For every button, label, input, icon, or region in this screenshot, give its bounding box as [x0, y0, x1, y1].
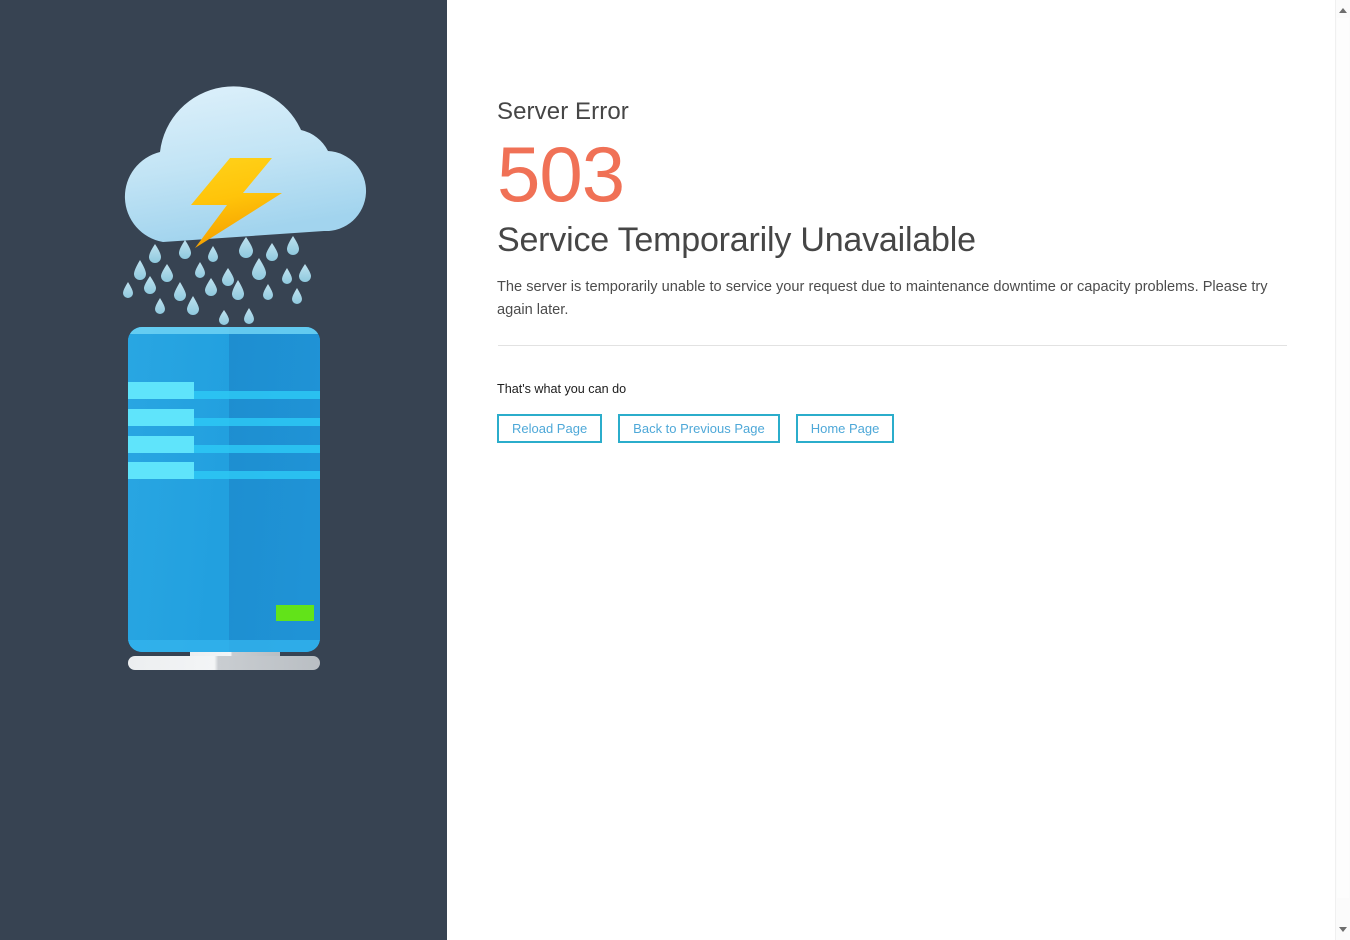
- raindrop-icon: [174, 282, 186, 301]
- raindrop-icon: [161, 264, 173, 282]
- actions-label: That's what you can do: [497, 354, 1287, 397]
- back-to-previous-page-button[interactable]: Back to Previous Page: [618, 414, 780, 443]
- error-page: Server Error 503 Service Temporarily Una…: [0, 0, 1350, 940]
- raindrop-icon: [134, 260, 146, 280]
- action-button-row: Reload Page Back to Previous Page Home P…: [497, 397, 1287, 443]
- raindrop-icon: [282, 268, 292, 284]
- section-divider: [498, 345, 1287, 346]
- raindrop-icon: [263, 284, 273, 300]
- raindrop-icon: [219, 310, 229, 325]
- error-code: 503: [497, 128, 1287, 216]
- raindrop-icon: [205, 278, 217, 296]
- scroll-up-arrow[interactable]: [1336, 3, 1350, 18]
- scrollbar-track[interactable]: [1335, 0, 1350, 940]
- raindrop-icon: [287, 236, 299, 255]
- raindrop-icon: [244, 308, 254, 324]
- raindrop-icon: [239, 237, 253, 258]
- raindrop-icon: [144, 276, 156, 294]
- illustration-panel: [0, 0, 447, 940]
- scroll-down-arrow[interactable]: [1336, 922, 1350, 937]
- scrollbar-thumb[interactable]: [1337, 18, 1349, 898]
- raindrop-icon: [123, 282, 133, 298]
- error-label: Server Error: [497, 0, 1287, 128]
- raindrop-icon: [299, 264, 311, 282]
- status-led-indicator: [276, 605, 314, 621]
- error-title: Service Temporarily Unavailable: [497, 216, 1287, 262]
- server-tower-icon: [128, 327, 320, 652]
- raindrop-icon: [292, 288, 302, 304]
- content-panel: Server Error 503 Service Temporarily Una…: [447, 0, 1350, 940]
- home-page-button[interactable]: Home Page: [796, 414, 895, 443]
- raindrop-icon: [232, 280, 244, 300]
- raindrop-icon: [187, 296, 199, 315]
- raindrop-icon: [155, 298, 165, 314]
- reload-page-button[interactable]: Reload Page: [497, 414, 602, 443]
- storm-cloud-over-server-illustration: [0, 0, 447, 940]
- error-description: The server is temporarily unable to serv…: [497, 262, 1272, 321]
